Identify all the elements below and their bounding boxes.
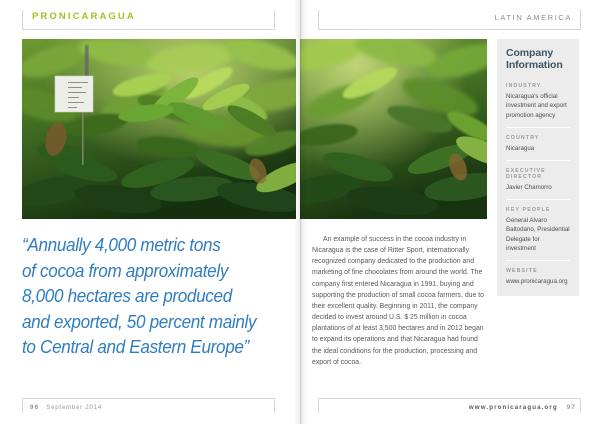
footer-left: 96September 2014 — [30, 404, 102, 411]
pull-quote: “Annually 4,000 metric tons of cocoa fro… — [22, 232, 269, 360]
sidebar-value-country: Nicaragua — [506, 144, 570, 153]
header-tick-left-end — [274, 10, 275, 30]
footer-right: www.pronicaragua.org97 — [469, 404, 576, 411]
sidebar-block-website: WEBSITE www.pronicaragua.org — [506, 268, 570, 286]
magazine-spread: PRONICARAGUA LATIN AMERICA — [0, 0, 600, 424]
footer-page-number-right: 97 — [567, 404, 576, 411]
sidebar-value-key-people: General Alvaro Baltodano, Presidential D… — [506, 216, 570, 253]
header-rule-right — [318, 29, 580, 30]
header-tick-right-end — [580, 10, 581, 30]
header-tick-right-start — [318, 10, 319, 30]
sidebar-divider-1 — [506, 127, 570, 128]
sidebar-heading-website: WEBSITE — [506, 268, 570, 274]
section-label: LATIN AMERICA — [495, 13, 572, 22]
footer-tick-right-start — [318, 398, 319, 413]
footer-tick-right-end — [580, 398, 581, 413]
footer-issue-date: September 2014 — [46, 404, 102, 411]
sidebar-divider-4 — [506, 260, 570, 261]
sidebar-block-key-people: KEY PEOPLE General Alvaro Baltodano, Pre… — [506, 207, 570, 253]
hero-photo-right — [300, 39, 487, 219]
footer-rule-right — [318, 398, 580, 399]
article-body: An example of success in the cocoa indus… — [312, 234, 484, 368]
sidebar-heading-country: COUNTRY — [506, 135, 570, 141]
sidebar-heading-executive-director: EXECUTIVE DIRECTOR — [506, 168, 570, 180]
footer-rule-left — [22, 398, 274, 399]
sidebar-block-country: COUNTRY Nicaragua — [506, 135, 570, 153]
cocoa-plantation-illustration — [22, 39, 296, 219]
brand-logo: PRONICARAGUA — [32, 11, 136, 22]
footer-tick-left-end — [274, 398, 275, 413]
footer-website[interactable]: www.pronicaragua.org — [469, 404, 558, 411]
header-rule-left — [22, 29, 274, 30]
hero-photo-left — [22, 39, 296, 219]
sidebar-heading-industry: INDUSTRY — [506, 83, 570, 89]
page-gutter-line — [300, 0, 301, 424]
header-tick-left-start — [22, 10, 23, 30]
footer-page-number-left: 96 — [30, 404, 39, 411]
cocoa-plantation-illustration-continued — [300, 39, 487, 219]
sidebar-divider-2 — [506, 160, 570, 161]
sidebar-value-executive-director: Javier Chamorro — [506, 183, 570, 192]
sidebar-value-industry: Nicaragua's official investment and expo… — [506, 92, 570, 120]
sidebar-divider-3 — [506, 199, 570, 200]
company-information-panel: Company Information INDUSTRY Nicaragua's… — [497, 39, 579, 296]
sidebar-heading-key-people: KEY PEOPLE — [506, 207, 570, 213]
sidebar-title: Company Information — [506, 48, 570, 71]
sidebar-block-executive-director: EXECUTIVE DIRECTOR Javier Chamorro — [506, 168, 570, 192]
sidebar-value-website[interactable]: www.pronicaragua.org — [506, 277, 570, 286]
footer-tick-left-start — [22, 398, 23, 413]
sidebar-block-industry: INDUSTRY Nicaragua's official investment… — [506, 83, 570, 120]
